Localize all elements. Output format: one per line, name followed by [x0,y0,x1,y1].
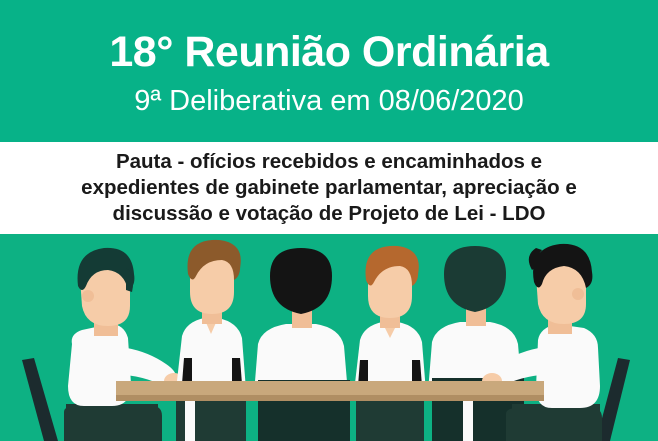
meeting-illustration [0,234,658,441]
header-banner: 18° Reunião Ordinária 9ª Deliberativa em… [0,0,658,142]
agenda-line-2: expedientes de gabinete parlamentar, apr… [14,175,644,201]
event-poster: 18° Reunião Ordinária 9ª Deliberativa em… [0,0,658,441]
agenda-line-3: discussão e votação de Projeto de Lei - … [14,201,644,227]
agenda-line-1: Pauta - ofícios recebidos e encaminhados… [14,149,644,175]
agenda-section: Pauta - ofícios recebidos e encaminhados… [0,142,658,234]
agenda-text-block: Pauta - ofícios recebidos e encaminhados… [14,149,644,227]
meeting-scene-graphic [0,234,658,441]
page-title: 18° Reunião Ordinária [0,27,658,77]
page-subtitle: 9ª Deliberativa em 08/06/2020 [0,84,658,118]
